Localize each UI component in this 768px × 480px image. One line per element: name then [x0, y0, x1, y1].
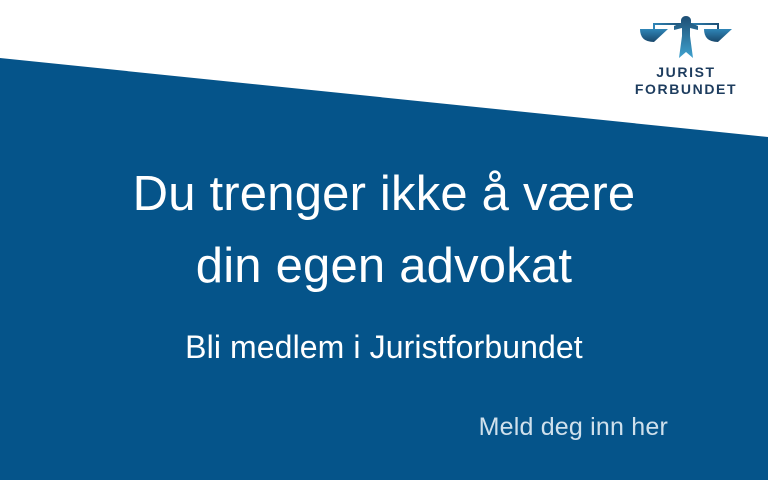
signup-link[interactable]: Meld deg inn her — [479, 411, 668, 443]
logo-text-line1: JURIST — [626, 64, 746, 81]
headline-line-2: din egen advokat — [0, 230, 768, 302]
headline: Du trenger ikke å være din egen advokat — [0, 158, 768, 302]
juristforbundet-logo[interactable]: JURIST FORBUNDET — [626, 14, 746, 98]
scales-of-justice-icon — [638, 14, 734, 60]
advertisement-banner[interactable]: JURIST FORBUNDET Du trenger ikke å være … — [0, 0, 768, 480]
headline-line-1: Du trenger ikke å være — [0, 158, 768, 230]
subheading: Bli medlem i Juristforbundet — [0, 327, 768, 367]
logo-text-line2: FORBUNDET — [626, 81, 746, 98]
